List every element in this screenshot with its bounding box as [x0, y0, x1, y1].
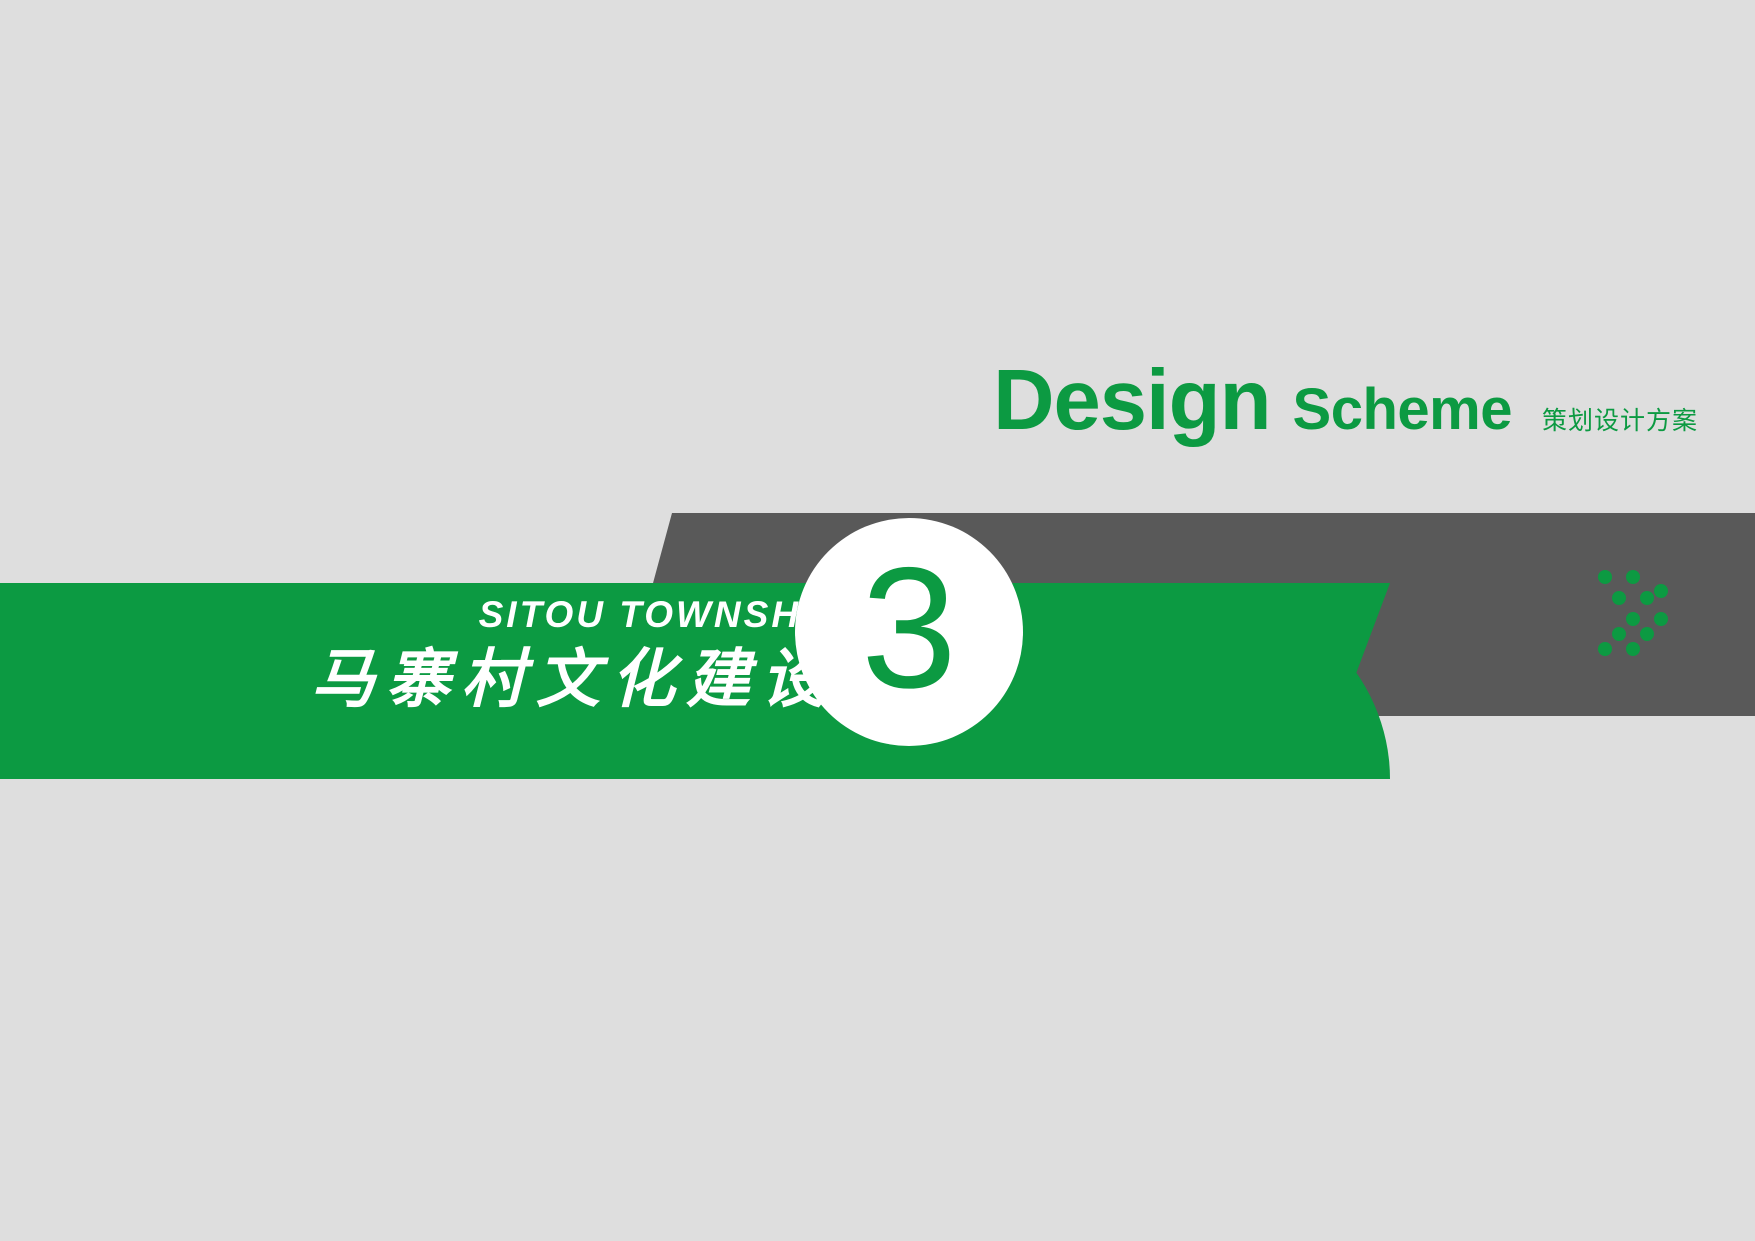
pattern-dot-6 [1612, 627, 1626, 641]
section-number-circle: 3 [795, 518, 1023, 746]
banner-title-chinese: 马寨村文化建设 [0, 643, 842, 717]
title-primary: Design [993, 358, 1270, 443]
header-title-block: Design Scheme 策划设计方案 [0, 358, 1698, 448]
diamond-dot-pattern-icon [1592, 570, 1678, 656]
pattern-dot-9 [1626, 642, 1640, 656]
pattern-dot-0 [1598, 570, 1612, 584]
title-secondary: Scheme [1293, 381, 1512, 439]
pattern-dot-8 [1598, 642, 1612, 656]
slide-canvas: Design Scheme 策划设计方案 SITOU TOWNSHIP 马寨村文… [0, 0, 1755, 1241]
pattern-dot-10 [1654, 584, 1668, 598]
pattern-dot-2 [1612, 591, 1626, 605]
section-number-text: 3 [861, 542, 957, 714]
pattern-dot-5 [1654, 612, 1668, 626]
banner-subtitle-english: SITOU TOWNSHIP [0, 596, 842, 633]
pattern-dot-1 [1626, 570, 1640, 584]
title-chinese-subtitle: 策划设计方案 [1542, 409, 1698, 434]
banner-text-block: SITOU TOWNSHIP 马寨村文化建设 [0, 596, 842, 717]
pattern-dot-4 [1626, 612, 1640, 626]
pattern-dot-7 [1640, 627, 1654, 641]
pattern-dot-3 [1640, 591, 1654, 605]
